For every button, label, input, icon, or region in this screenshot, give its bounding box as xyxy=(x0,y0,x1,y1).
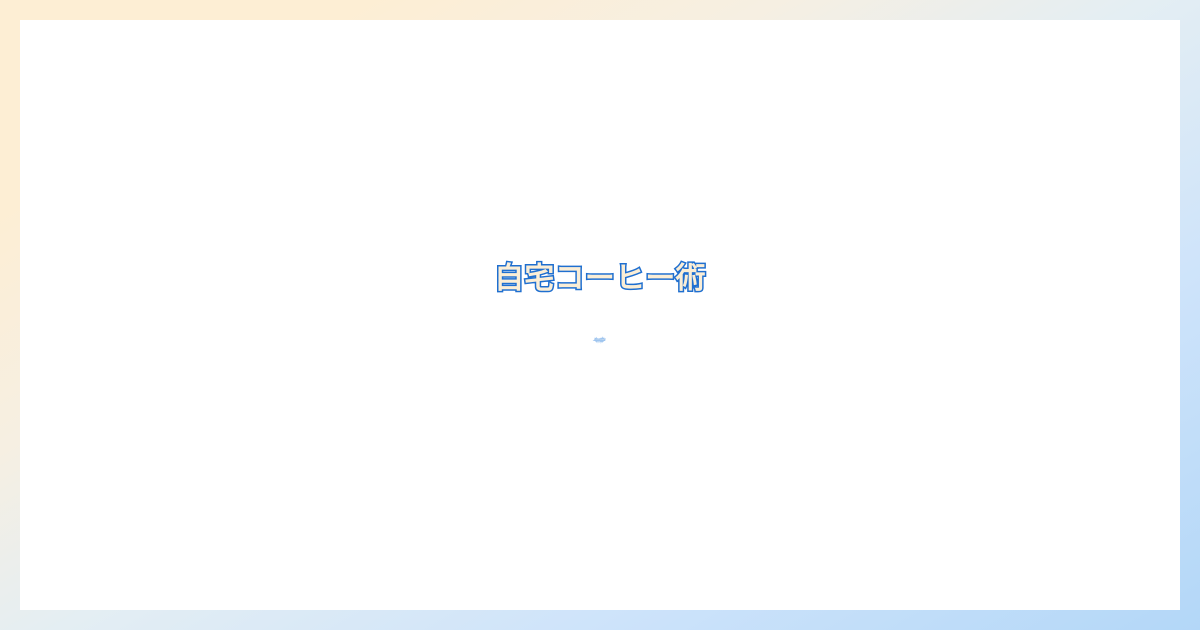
card-canvas: 自宅コーヒー術 初心者向けコスト削減を徹底解説 xyxy=(20,20,1180,610)
subtitle-container: 初心者向けコスト削減を徹底解説 xyxy=(20,341,1180,342)
eyecatch-card: 自宅コーヒー術 初心者向けコスト削減を徹底解説 xyxy=(0,0,1200,630)
card-subtitle: 初心者向けコスト削減を徹底解説 xyxy=(20,341,1180,342)
card-title: 自宅コーヒー術 xyxy=(20,263,1180,295)
title-container: 自宅コーヒー術 xyxy=(20,263,1180,295)
text-stack: 自宅コーヒー術 初心者向けコスト削減を徹底解説 xyxy=(20,20,1180,610)
